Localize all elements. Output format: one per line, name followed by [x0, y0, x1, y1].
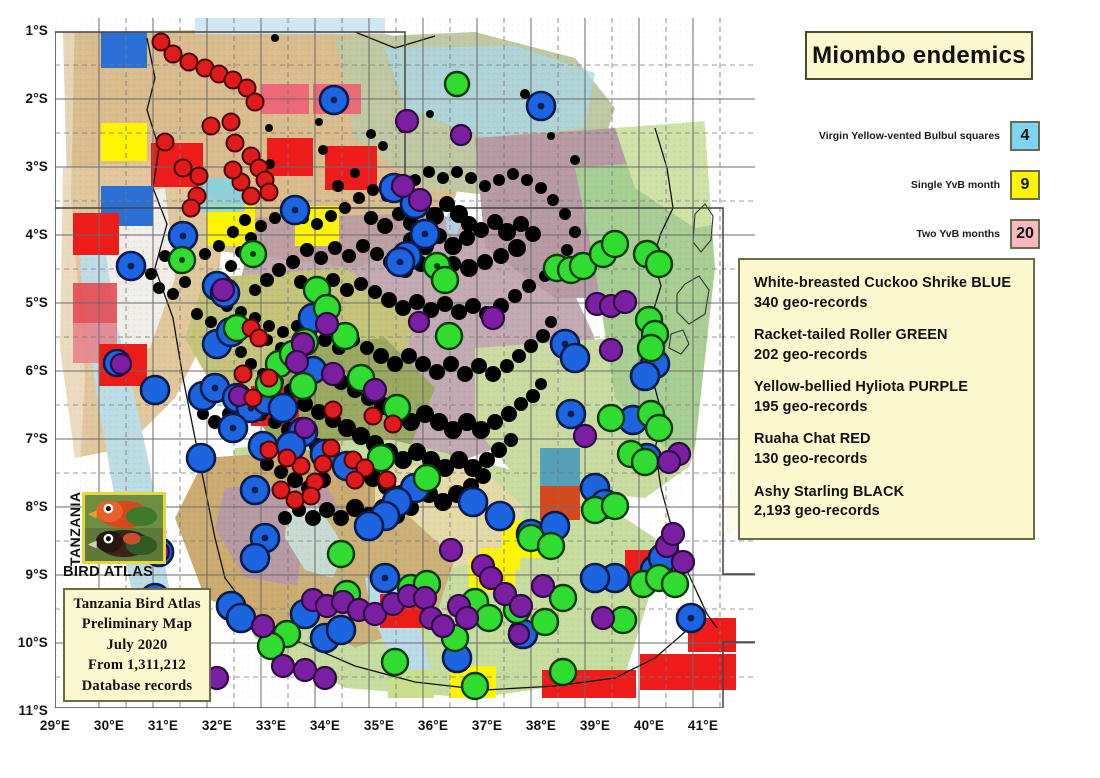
y-tick-label: 2°S	[0, 91, 48, 106]
yvb-legend-row: Single YvB month9	[780, 169, 1040, 200]
square-blue[interactable]	[101, 32, 147, 68]
y-tick-label: 4°S	[0, 227, 48, 242]
square-yellow[interactable]	[101, 123, 147, 161]
lovebird-photo	[82, 492, 166, 564]
x-tick-label: 33°E	[249, 718, 293, 733]
x-tick-label: 36°E	[411, 718, 455, 733]
lovebird-upper-wing	[126, 507, 157, 526]
atlas-logo: TANZANIA BIRD ATLAS	[63, 492, 168, 585]
page-title: Miombo endemics	[812, 42, 1026, 70]
species-legend-item: Racket-tailed Roller GREEN202 geo-record…	[754, 326, 1033, 365]
y-tick-label: 7°S	[0, 431, 48, 446]
square-red[interactable]	[267, 138, 313, 176]
x-tick-label: 29°E	[33, 718, 77, 733]
y-tick-label: 8°S	[0, 499, 48, 514]
yvb-legend-label: Virgin Yellow-vented Bulbul squares	[819, 130, 1000, 142]
species-record-count: 340 geo-records	[754, 294, 1033, 314]
yvb-legend: Virgin Yellow-vented Bulbul squares4Sing…	[780, 120, 1040, 267]
y-tick-label: 9°S	[0, 567, 48, 582]
species-name: Yellow-bellied Hyliota PURPLE	[754, 378, 1033, 398]
info-line: Database records	[82, 676, 192, 697]
yvb-legend-row: Two YvB months20	[780, 218, 1040, 249]
square-red[interactable]	[590, 670, 636, 698]
yvb-legend-swatch-single-yvb-month[interactable]: 9	[1010, 170, 1040, 200]
x-tick-label: 37°E	[465, 718, 509, 733]
yvb-legend-label: Single YvB month	[911, 179, 1000, 191]
lovebird-icon	[85, 495, 163, 561]
yvb-legend-swatch-two-yvb-months[interactable]: 20	[1010, 219, 1040, 249]
atlas-info-box: Tanzania Bird AtlasPreliminary MapJuly 2…	[63, 588, 211, 702]
species-legend-item: Yellow-bellied Hyliota PURPLE195 geo-rec…	[754, 378, 1033, 417]
species-record-count: 2,193 geo-records	[754, 502, 1033, 522]
square-red[interactable]	[688, 654, 736, 690]
yvb-legend-label: Two YvB months	[916, 228, 1000, 240]
x-tick-label: 39°E	[573, 718, 617, 733]
info-line: Tanzania Bird Atlas	[73, 594, 200, 615]
square-teal[interactable]	[540, 448, 580, 486]
y-tick-label: 5°S	[0, 295, 48, 310]
x-tick-label: 34°E	[303, 718, 347, 733]
map-title-box: Miombo endemics	[805, 31, 1033, 80]
x-tick-label: 32°E	[195, 718, 239, 733]
square-red[interactable]	[640, 654, 688, 690]
species-name: White-breasted Cuckoo Shrike BLUE	[754, 274, 1033, 294]
yvb-legend-swatch-virgin-yvb-squares[interactable]: 4	[1010, 121, 1040, 151]
y-tick-label: 1°S	[0, 23, 48, 38]
species-legend-item: Ashy Starling BLACK2,193 geo-records	[754, 483, 1033, 522]
info-line: Preliminary Map	[82, 614, 192, 635]
species-record-count: 202 geo-records	[754, 346, 1033, 366]
species-record-count: 130 geo-records	[754, 450, 1033, 470]
species-name: Ruaha Chat RED	[754, 430, 1033, 450]
info-line: July 2020	[106, 635, 167, 656]
x-tick-label: 30°E	[87, 718, 131, 733]
species-legend-item: Ruaha Chat RED130 geo-records	[754, 430, 1033, 469]
y-tick-label: 10°S	[0, 635, 48, 650]
species-record-count: 195 geo-records	[754, 398, 1033, 418]
species-legend-box: White-breasted Cuckoo Shrike BLUE340 geo…	[738, 258, 1035, 540]
logo-tanzania-text: TANZANIA	[63, 493, 83, 565]
x-tick-label: 35°E	[357, 718, 401, 733]
y-tick-label: 6°S	[0, 363, 48, 378]
x-tick-label: 41°E	[681, 718, 725, 733]
info-line: From 1,311,212	[88, 655, 186, 676]
y-tick-label: 3°S	[0, 159, 48, 174]
x-tick-label: 38°E	[519, 718, 563, 733]
species-legend-item: White-breasted Cuckoo Shrike BLUE340 geo…	[754, 274, 1033, 313]
x-tick-label: 31°E	[141, 718, 185, 733]
species-name: Ashy Starling BLACK	[754, 483, 1033, 503]
logo-bird-atlas-text: BIRD ATLAS	[63, 564, 168, 584]
square-red[interactable]	[73, 213, 119, 255]
yvb-legend-row: Virgin Yellow-vented Bulbul squares4	[780, 120, 1040, 151]
species-name: Racket-tailed Roller GREEN	[754, 326, 1033, 346]
y-tick-label: 11°S	[0, 703, 48, 718]
x-tick-label: 40°E	[627, 718, 671, 733]
